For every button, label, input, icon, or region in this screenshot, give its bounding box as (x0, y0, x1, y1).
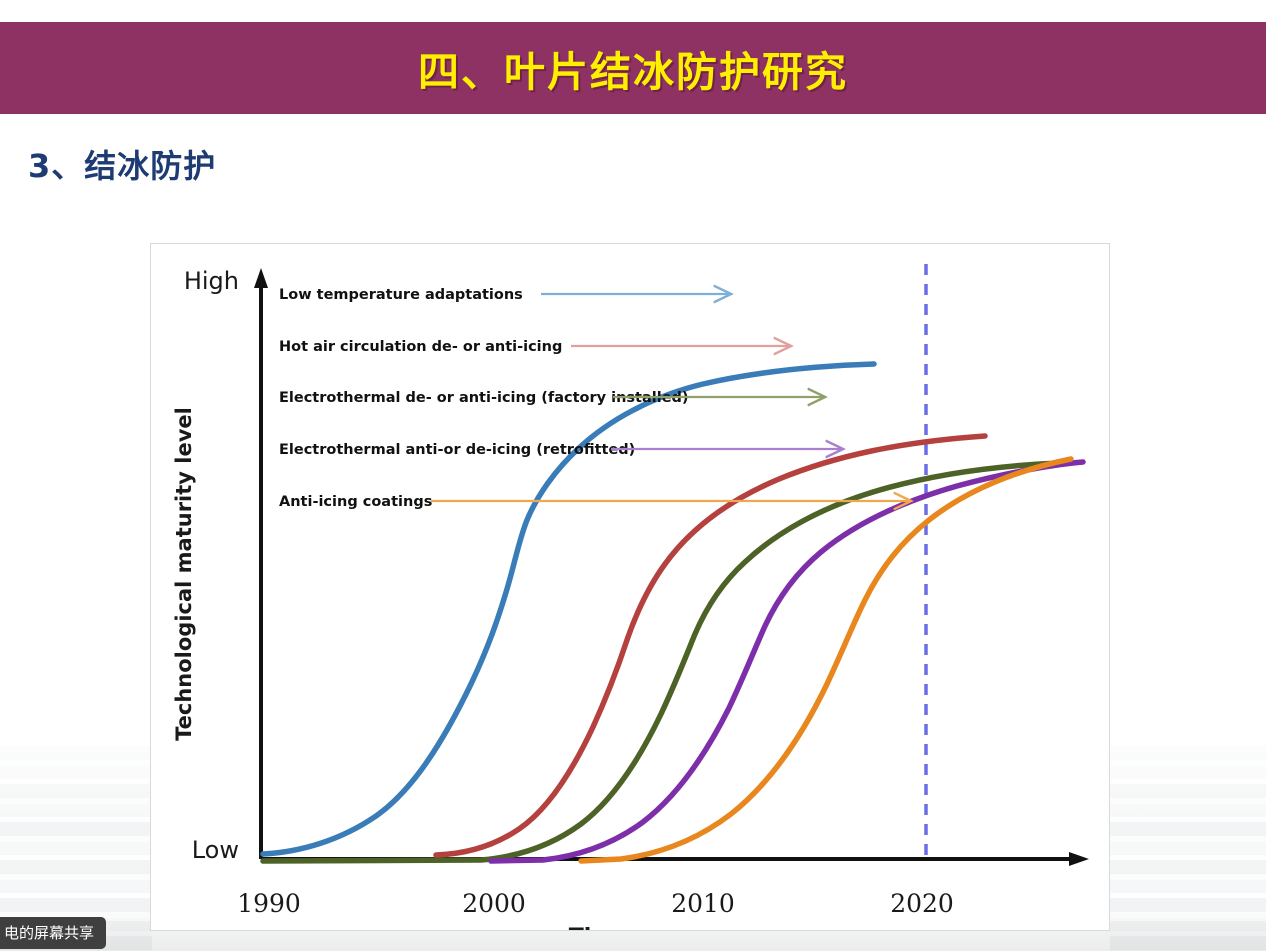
y-axis-high-label: High (184, 267, 239, 295)
series-curve-anti-icing-coatings (581, 459, 1071, 861)
legend-label-1: Hot air circulation de- or anti-icing (279, 339, 562, 355)
y-axis-title: Technological maturity level (172, 407, 196, 741)
legend-item-anti-icing-coatings[interactable]: Anti-icing coatings (279, 494, 909, 510)
series-curve-hot-air-circulation (436, 436, 985, 855)
series-curve-electrothermal-retrofitted (491, 462, 1083, 861)
x-tick-2020: 2020 (890, 889, 954, 918)
x-tick-1990: 1990 (237, 889, 301, 918)
legend-item-electrothermal-retrofitted[interactable]: Electrothermal anti-or de-icing (retrofi… (279, 442, 841, 458)
section-subtitle: 3、结冰防护 (28, 141, 216, 187)
legend-item-hot-air-circulation[interactable]: Hot air circulation de- or anti-icing (279, 339, 789, 355)
screen-share-badge: 电的屏幕共享 (0, 917, 106, 949)
slide-root: 四、叶片结冰防护研究 3、结冰防护 High Low Technological… (0, 0, 1266, 951)
legend-label-4: Anti-icing coatings (279, 494, 432, 510)
slide-header-banner: 四、叶片结冰防护研究 (0, 22, 1266, 114)
x-tick-2000: 2000 (462, 889, 526, 918)
background-photo-right (1110, 746, 1266, 951)
legend-label-0: Low temperature adaptations (279, 287, 523, 303)
x-tick-2010: 2010 (671, 889, 735, 918)
technology-maturity-chart: High Low Technological maturity level 19… (150, 243, 1110, 931)
legend-label-3: Electrothermal anti-or de-icing (retrofi… (279, 442, 635, 458)
y-axis-low-label: Low (192, 836, 239, 864)
page-title: 四、叶片结冰防护研究 (418, 38, 848, 98)
x-axis-title: Time (569, 925, 629, 930)
series-curve-electrothermal-factory-installed (263, 463, 1059, 861)
series-curve-low-temperature-adaptations (263, 364, 874, 854)
legend-item-electrothermal-factory-installed[interactable]: Electrothermal de- or anti-icing (factor… (279, 390, 823, 406)
chart-legend: Low temperature adaptations Hot air circ… (279, 287, 909, 510)
chart-axes (254, 268, 1089, 866)
chart-svg: High Low Technological maturity level 19… (151, 244, 1109, 930)
legend-item-low-temperature-adaptations[interactable]: Low temperature adaptations (279, 287, 729, 303)
